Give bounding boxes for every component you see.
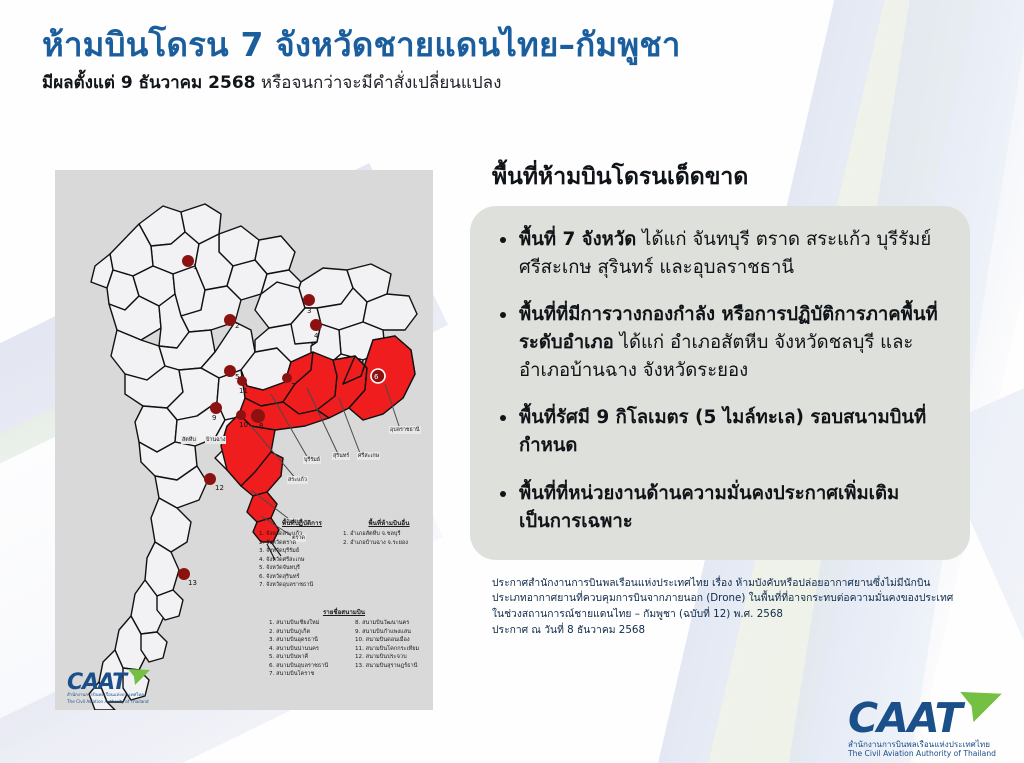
bullet-text: พื้นที่ที่มีการวางกองกำลัง หรือการปฏิบัต…: [519, 301, 944, 385]
infographic-root: ห้ามบินโดรน 7 จังหวัดชายแดนไทย–กัมพูชา ม…: [0, 0, 1024, 763]
bullet-text: พื้นที่รัศมี 9 กิโลเมตร (5 ไมล์ทะเล) รอบ…: [519, 404, 944, 460]
svg-text:1: 1: [193, 263, 197, 271]
swoosh-icon: [958, 690, 1004, 724]
svg-text:7: 7: [291, 382, 295, 390]
map-label-sattahip: สัตหีบ: [181, 436, 197, 444]
bullet-dot-icon: [500, 491, 506, 497]
announcement-fineprint: ประกาศสำนักงานการบินพลเรือนแห่งประเทศไทย…: [492, 576, 972, 639]
airport-item: 1. สนามบินเชียงใหม่: [269, 619, 349, 628]
airport-item: 7. สนามบินโคราช: [269, 670, 349, 679]
legend-operation-heading: พื้นที่ปฏิบัติการ: [259, 518, 345, 528]
airport-item: 9. สนามบินกำแพงแสน: [355, 628, 433, 637]
map-label-buriram: บุรีรัมย์: [303, 456, 321, 464]
airport-column-2: 8. สนามบินวัฒนานคร 9. สนามบินกำแพงแสน 10…: [355, 619, 433, 679]
svg-text:6: 6: [374, 373, 379, 381]
airport-item: 3. สนามบินอุดรธานี: [269, 636, 349, 645]
swoosh-icon: [127, 668, 151, 686]
legend-item: 2. จังหวัดตราด: [259, 539, 345, 548]
svg-text:5: 5: [235, 373, 239, 381]
legend-other-area: พื้นที่ห้ามบินอื่น 1. อำเภอสัตหีบ จ.ชลบุ…: [343, 518, 433, 547]
caat-subtitle-th: สำนักงานการบินพลเรือนแห่งประเทศไทย: [848, 739, 996, 749]
fineprint-line: ในช่วงสถานการณ์ชายแดนไทย – กัมพูชา (ฉบับ…: [492, 607, 972, 623]
svg-text:11: 11: [239, 387, 248, 395]
svg-text:13: 13: [188, 579, 197, 587]
map-label-banchang: บ้านฉาง: [205, 436, 226, 444]
page-subtitle: มีผลตั้งแต่ 9 ธันวาคม 2568 หรือจนกว่าจะม…: [42, 72, 902, 94]
fineprint-line: ประกาศ ณ วันที่ 8 ธันวาคม 2568: [492, 623, 972, 639]
legend-other-heading: พื้นที่ห้ามบินอื่น: [343, 518, 433, 528]
bullet-bold-text: พื้นที่ที่หน่วยงานด้านความมั่นคงประกาศเพ…: [519, 483, 899, 532]
airport-item: 12. สนามบินประจวบ: [355, 653, 433, 662]
subtitle-effective-date: มีผลตั้งแต่ 9 ธันวาคม 2568: [42, 73, 256, 93]
svg-text:3: 3: [307, 307, 311, 315]
bullet-bold-text: พื้นที่รัศมี 9 กิโลเมตร (5 ไมล์ทะเล) รอบ…: [519, 407, 926, 456]
bullet-dot-icon: [500, 237, 506, 243]
airport-item: 10. สนามบินดอนเมือง: [355, 636, 433, 645]
airport-item: 13. สนามบินสุราษฎร์ธานี: [355, 662, 433, 671]
subtitle-note: หรือจนกว่าจะมีคำสั่งเปลี่ยนแปลง: [256, 73, 502, 93]
caat-subtitle-en: The Civil Aviation Authority of Thailand: [848, 749, 996, 758]
legend-airport-list: รายชื่อสนามบิน 1. สนามบินเชียงใหม่ 2. สน…: [251, 607, 433, 679]
bullet-dot-icon: [500, 415, 506, 421]
bullet-text: พื้นที่ 7 จังหวัด ได้แก่ จันทบุรี ตราด ส…: [519, 226, 944, 282]
svg-text:12: 12: [215, 484, 224, 492]
legend-item: 2. อำเภอบ้านฉาง จ.ระยอง: [343, 539, 433, 548]
restricted-areas-card: พื้นที่ 7 จังหวัด ได้แก่ จันทบุรี ตราด ส…: [470, 206, 970, 560]
airport-item: 8. สนามบินวัฒนานคร: [355, 619, 433, 628]
map-label-sisaket: ศรีสะเกษ: [357, 452, 380, 460]
bullet-text: พื้นที่ที่หน่วยงานด้านความมั่นคงประกาศเพ…: [519, 480, 944, 536]
airport-item: 11. สนามบินโคกกระเทียม: [355, 645, 433, 654]
airport-column-1: 1. สนามบินเชียงใหม่ 2. สนามบินภูเก็ต 3. …: [269, 619, 349, 679]
legend-item: 6. จังหวัดสุรินทร์: [259, 573, 345, 582]
airport-item: 5. สนามบินพาคี: [269, 653, 349, 662]
svg-text:10: 10: [239, 421, 248, 429]
caat-subtitle-th: สำนักงานการบินพลเรือนแห่งประเทศไทย: [67, 693, 149, 699]
bullet-dot-icon: [500, 312, 506, 318]
map-label-ubon-ratchathani: อุบลราชธานี: [389, 426, 421, 434]
legend-operation-area: พื้นที่ปฏิบัติการ 1. จังหวัดสระแก้ว 2. จ…: [259, 518, 345, 590]
map-label-sakaeo: สระแก้ว: [287, 476, 308, 484]
fineprint-line: ประกาศสำนักงานการบินพลเรือนแห่งประเทศไทย…: [492, 576, 972, 592]
section-title: พื้นที่ห้ามบินโดรนเด็ดขาด: [492, 163, 980, 192]
header: ห้ามบินโดรน 7 จังหวัดชายแดนไทย–กัมพูชา ม…: [42, 26, 902, 94]
legend-item: 5. จังหวัดจันทบุรี: [259, 564, 345, 573]
map-panel: 1 2 3 4 5 6 7 8 9 10 11 12 13 บุรีรัมย์ …: [55, 170, 433, 710]
content-column: พื้นที่ห้ามบินโดรนเด็ดขาด พื้นที่ 7 จังห…: [470, 163, 980, 638]
bullet-item: พื้นที่ที่หน่วยงานด้านความมั่นคงประกาศเพ…: [496, 480, 944, 536]
legend-item: 7. จังหวัดอุบลราชธานี: [259, 581, 345, 590]
airport-item: 2. สนามบินภูเก็ต: [269, 628, 349, 637]
caat-subtitle-en: The Civil Aviation Authority of Thailand: [67, 699, 149, 704]
legend-item: 4. จังหวัดศรีสะเกษ: [259, 556, 345, 565]
svg-text:9: 9: [212, 414, 216, 422]
airport-item: 6. สนามบินอุบลราชธานี: [269, 662, 349, 671]
legend-item: 3. จังหวัดบุรีรัมย์: [259, 547, 345, 556]
caat-logo-main: CAAT สำนักงานการบินพลเรือนแห่งประเทศไทย …: [848, 694, 996, 759]
svg-text:2: 2: [235, 322, 239, 330]
legend-item: 1. อำเภอสัตหีบ จ.ชลบุรี: [343, 530, 433, 539]
legend-item: 1. จังหวัดสระแก้ว: [259, 530, 345, 539]
bullet-item: พื้นที่ที่มีการวางกองกำลัง หรือการปฏิบัต…: [496, 301, 944, 385]
bullet-item: พื้นที่รัศมี 9 กิโลเมตร (5 ไมล์ทะเล) รอบ…: [496, 404, 944, 460]
map-label-surin: สุรินทร์: [332, 452, 350, 460]
bullet-item: พื้นที่ 7 จังหวัด ได้แก่ จันทบุรี ตราด ส…: [496, 226, 944, 282]
caat-logo-small: CAAT สำนักงานการบินพลเรือนแห่งประเทศไทย …: [67, 670, 149, 704]
svg-text:4: 4: [314, 332, 319, 340]
legend-airport-heading: รายชื่อสนามบิน: [251, 607, 433, 617]
svg-text:8: 8: [259, 422, 263, 430]
fineprint-line: ประเภทอากาศยานที่ควบคุมการบินจากภายนอก (…: [492, 591, 972, 607]
airport-item: 4. สนามบินน่านนคร: [269, 645, 349, 654]
page-title: ห้ามบินโดรน 7 จังหวัดชายแดนไทย–กัมพูชา: [42, 26, 902, 65]
bullet-bold-text: พื้นที่ 7 จังหวัด: [519, 229, 636, 250]
